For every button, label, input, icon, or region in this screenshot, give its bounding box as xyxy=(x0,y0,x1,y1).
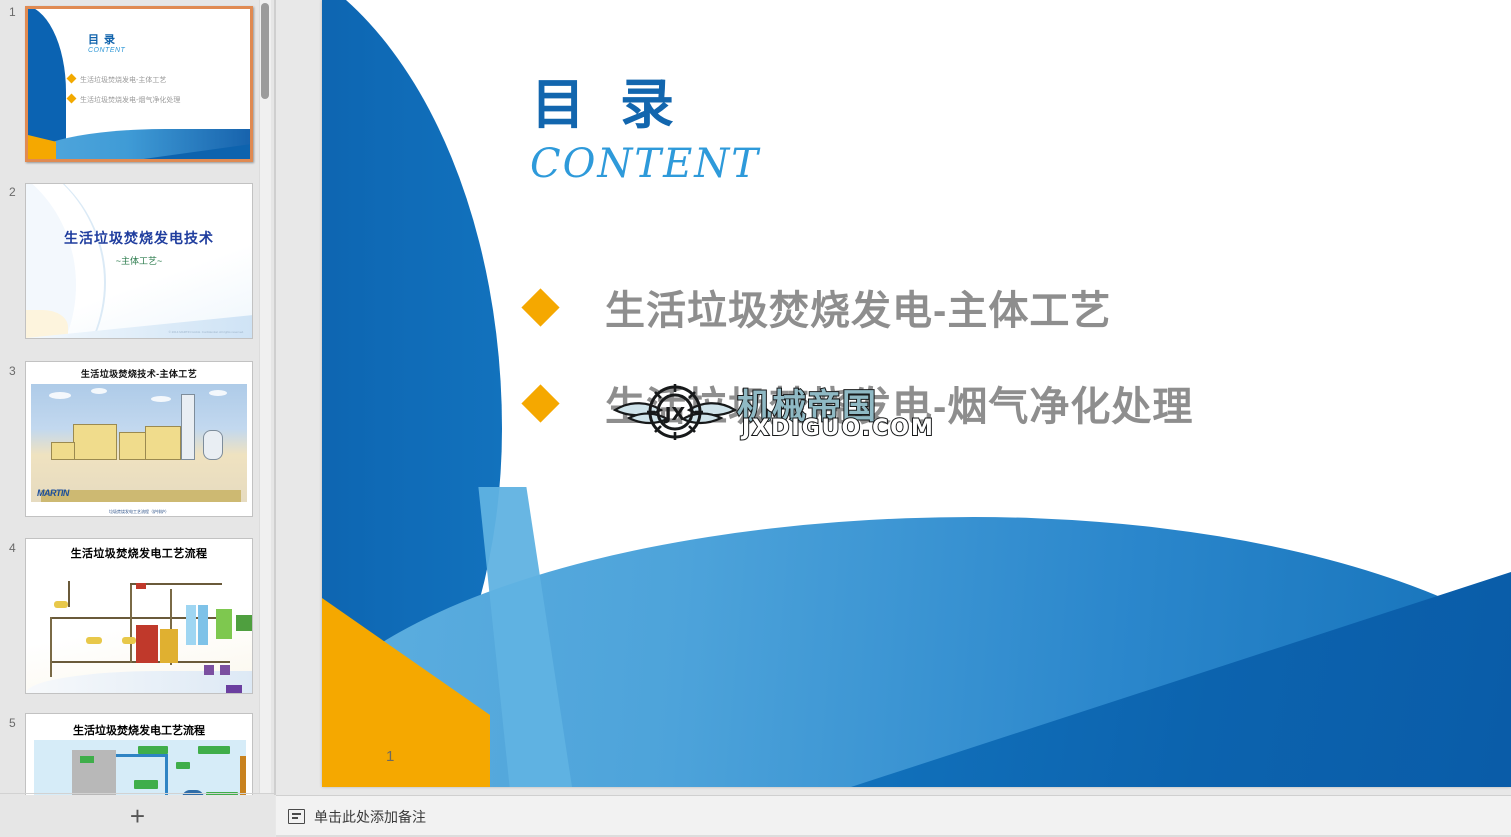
thumb1-diamond-icon-1 xyxy=(67,74,77,84)
thumb3-caption: 垃圾焚烧发电工艺流程（炉排炉） xyxy=(26,509,252,515)
slide-bullet-item-2[interactable]: 生活垃圾焚烧发电-烟气净化处理 xyxy=(527,374,1193,432)
slide-thumbnail-panel[interactable]: 1 目 录 CONTENT 生活垃圾焚烧发电-主体工艺 生活垃圾焚烧发电-烟气净… xyxy=(0,0,275,795)
thumb4-diagram xyxy=(40,565,242,677)
thumbnail-number-3: 3 xyxy=(9,365,16,377)
thumb1-subtitle: CONTENT xyxy=(88,47,125,54)
thumbnail-number-4: 4 xyxy=(9,542,16,554)
thumb4-title: 生活垃圾焚烧发电工艺流程 xyxy=(26,545,252,561)
notes-pane[interactable]: 单击此处添加备注 xyxy=(276,795,1511,837)
slide-subtitle[interactable]: CONTENT xyxy=(530,142,760,186)
slide-thumbnail-5[interactable]: 生活垃圾焚烧发电工艺流程 xyxy=(25,713,253,795)
thumbnail-number-5: 5 xyxy=(9,717,16,729)
thumb2-subtitle: ~主体工艺~ xyxy=(26,254,252,267)
slide-thumbnail-1[interactable]: 目 录 CONTENT 生活垃圾焚烧发电-主体工艺 生活垃圾焚烧发电-烟气净化处… xyxy=(25,6,253,162)
slide-thumbnail-3[interactable]: 生活垃圾焚烧技术-主体工艺 MARTIN xyxy=(25,361,253,517)
add-slide-button[interactable]: + xyxy=(0,795,275,837)
slide-thumbnail-2[interactable]: 生活垃圾焚烧发电技术 ~主体工艺~ © 2014 MARTIN GmbH. Co… xyxy=(25,183,253,339)
powerpoint-editor-window: 1 目 录 CONTENT 生活垃圾焚烧发电-主体工艺 生活垃圾焚烧发电-烟气净… xyxy=(0,0,1511,837)
thumb1-bullet-1: 生活垃圾焚烧发电-主体工艺 xyxy=(80,75,166,85)
notes-placeholder: 单击此处添加备注 xyxy=(314,807,426,827)
thumb5-diagram xyxy=(34,740,246,795)
thumbnail-number-2: 2 xyxy=(9,186,16,198)
sidebar-scrollbar-track[interactable] xyxy=(259,0,271,793)
thumb5-title: 生活垃圾焚烧发电工艺流程 xyxy=(26,722,252,738)
thumb1-diamond-icon-2 xyxy=(67,94,77,104)
sidebar-scrollbar-thumb[interactable] xyxy=(261,3,269,99)
slide-page-number: 1 xyxy=(386,748,394,765)
slide-title[interactable]: 目 录 xyxy=(531,78,684,132)
slide-bullet-text-1: 生活垃圾焚烧发电-主体工艺 xyxy=(605,278,1111,336)
diamond-bullet-icon xyxy=(521,384,559,422)
sidebar-separator xyxy=(0,793,275,794)
current-slide-canvas[interactable]: 目 录 CONTENT 生活垃圾焚烧发电-主体工艺 生活垃圾焚烧发电-烟气净化处… xyxy=(322,0,1511,787)
plus-icon: + xyxy=(130,803,145,829)
thumbnail-number-1: 1 xyxy=(9,6,16,18)
thumb3-illustration: MARTIN xyxy=(31,384,247,502)
slide-thumbnail-4[interactable]: 生活垃圾焚烧发电工艺流程 xyxy=(25,538,253,694)
slide-editing-stage: 目 录 CONTENT 生活垃圾焚烧发电-主体工艺 生活垃圾焚烧发电-烟气净化处… xyxy=(276,0,1511,795)
notes-icon xyxy=(288,809,305,824)
thumb1-bullet-2: 生活垃圾焚烧发电-烟气净化处理 xyxy=(80,95,180,105)
diamond-bullet-icon xyxy=(521,288,559,326)
thumb2-footer: © 2014 MARTIN GmbH. Confidential. All ri… xyxy=(169,330,244,334)
thumb1-title: 目 录 xyxy=(88,31,116,47)
thumb1-left-swoosh xyxy=(28,9,66,155)
slide-bullet-item-1[interactable]: 生活垃圾焚烧发电-主体工艺 xyxy=(527,278,1111,336)
slide-bullet-text-2: 生活垃圾焚烧发电-烟气净化处理 xyxy=(605,374,1193,432)
thumb3-brand: MARTIN xyxy=(37,488,69,498)
thumb2-title: 生活垃圾焚烧发电技术 xyxy=(26,228,252,248)
thumb3-title: 生活垃圾焚烧技术-主体工艺 xyxy=(26,362,252,386)
